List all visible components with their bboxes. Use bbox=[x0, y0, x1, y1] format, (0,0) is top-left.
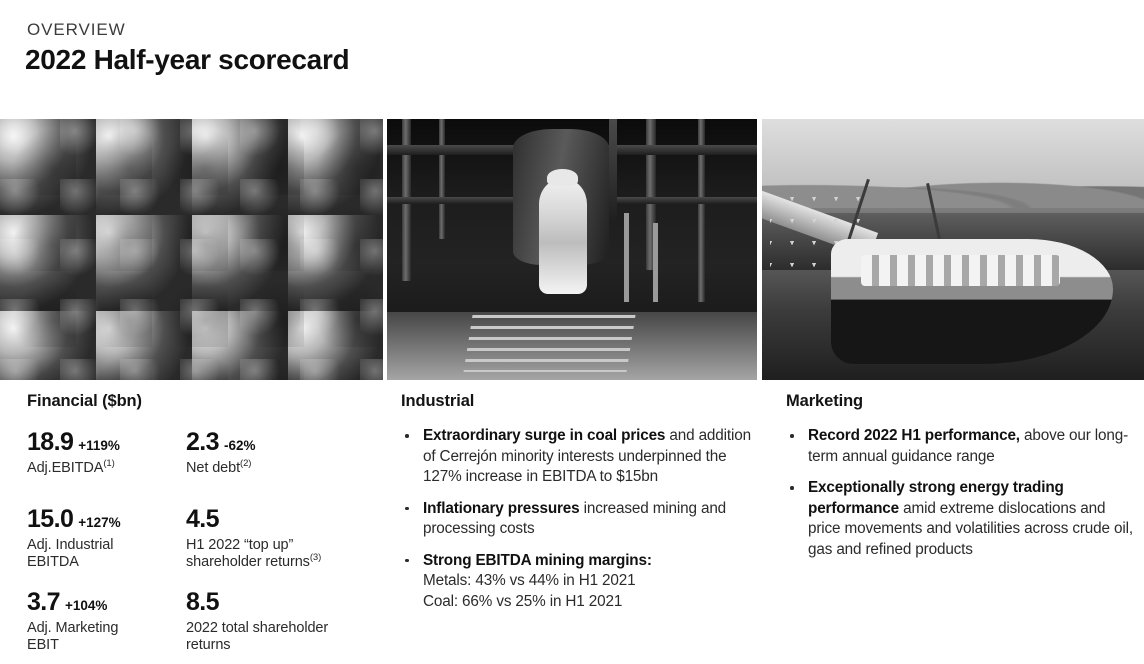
metric-value: 18.9 bbox=[27, 428, 73, 457]
marketing-bullet-list: Record 2022 H1 performance, above our lo… bbox=[786, 426, 1138, 571]
column-heading-industrial: Industrial bbox=[401, 392, 474, 411]
steel-balls-texture bbox=[0, 119, 383, 380]
column-financial: Financial ($bn) 18.9+119% Adj.EBITDA(1) … bbox=[0, 380, 390, 664]
bullet-dot-icon bbox=[405, 434, 409, 438]
section-eyebrow: OVERVIEW bbox=[27, 20, 126, 40]
metric-delta: -62% bbox=[224, 438, 256, 453]
metric-delta: +127% bbox=[78, 515, 120, 530]
metric-adj-industrial-ebitda: 15.0+127% Adj. Industrial EBITDA bbox=[27, 505, 157, 571]
bullet-dot-icon bbox=[790, 486, 794, 490]
industrial-bullet-list: Extraordinary surge in coal prices and a… bbox=[401, 426, 759, 623]
page-header: OVERVIEW 2022 Half-year scorecard bbox=[0, 0, 1144, 119]
bullet-subline: Metals: 43% vs 44% in H1 2021 bbox=[423, 571, 759, 592]
metric-delta: +104% bbox=[65, 598, 107, 613]
industrial-plant-scene bbox=[387, 119, 757, 380]
metric-label: H1 2022 “top up” shareholder returns(3) bbox=[186, 537, 361, 571]
list-item: Exceptionally strong energy trading perf… bbox=[786, 478, 1138, 560]
metric-label: Adj.EBITDA(1) bbox=[27, 460, 120, 477]
bullet-bold-text: Strong EBITDA mining margins: bbox=[423, 552, 652, 569]
metric-adj-marketing-ebit: 3.7+104% Adj. Marketing EBIT bbox=[27, 588, 152, 654]
stair-shape bbox=[464, 315, 636, 372]
metric-adj-ebitda: 18.9+119% Adj.EBITDA(1) bbox=[27, 428, 120, 477]
metric-value: 8.5 bbox=[186, 588, 219, 617]
metric-label: Adj. Marketing EBIT bbox=[27, 620, 152, 654]
metric-value: 3.7 bbox=[27, 588, 60, 617]
list-item: Strong EBITDA mining margins: Metals: 43… bbox=[401, 551, 759, 613]
bullet-dot-icon bbox=[405, 559, 409, 563]
scorecard-content: Financial ($bn) 18.9+119% Adj.EBITDA(1) … bbox=[0, 380, 1144, 664]
bullet-bold-text: Inflationary pressures bbox=[423, 500, 580, 517]
photo-band bbox=[0, 119, 1144, 380]
bullet-bold-text: Record 2022 H1 performance, bbox=[808, 427, 1020, 444]
list-item: Inflationary pressures increased mining … bbox=[401, 499, 759, 540]
metric-value: 2.3 bbox=[186, 428, 219, 457]
bullet-dot-icon bbox=[405, 507, 409, 511]
column-heading-marketing: Marketing bbox=[786, 392, 863, 411]
steel-balls-photo bbox=[0, 119, 383, 380]
metric-label: Adj. Industrial EBITDA bbox=[27, 537, 157, 571]
list-item: Extraordinary surge in coal prices and a… bbox=[401, 426, 759, 488]
bullet-dot-icon bbox=[790, 434, 794, 438]
metric-total-shareholder-returns: 8.5 2022 total shareholder returns bbox=[186, 588, 356, 654]
bullet-subline: Coal: 66% vs 25% in H1 2021 bbox=[423, 592, 759, 613]
metric-footnote: (2) bbox=[240, 458, 251, 469]
metric-net-debt: 2.3-62% Net debt(2) bbox=[186, 428, 255, 477]
metric-label: Net debt(2) bbox=[186, 460, 255, 477]
metric-value: 4.5 bbox=[186, 505, 219, 534]
ship-deck bbox=[861, 255, 1060, 286]
metric-label: 2022 total shareholder returns bbox=[186, 620, 356, 654]
metric-footnote: (3) bbox=[310, 552, 321, 563]
metric-topup-returns: 4.5 H1 2022 “top up” shareholder returns… bbox=[186, 505, 361, 571]
column-heading-financial: Financial ($bn) bbox=[27, 392, 142, 411]
worker-figure bbox=[539, 179, 587, 294]
metric-delta: +119% bbox=[78, 438, 120, 453]
industrial-plant-photo bbox=[387, 119, 757, 380]
bullet-bold-text: Extraordinary surge in coal prices bbox=[423, 427, 665, 444]
page-title: 2022 Half-year scorecard bbox=[25, 44, 349, 76]
list-item: Record 2022 H1 performance, above our lo… bbox=[786, 426, 1138, 467]
port-ship-photo bbox=[762, 119, 1144, 380]
port-scene bbox=[762, 119, 1144, 380]
metric-value: 15.0 bbox=[27, 505, 73, 534]
metric-footnote: (1) bbox=[103, 458, 114, 469]
